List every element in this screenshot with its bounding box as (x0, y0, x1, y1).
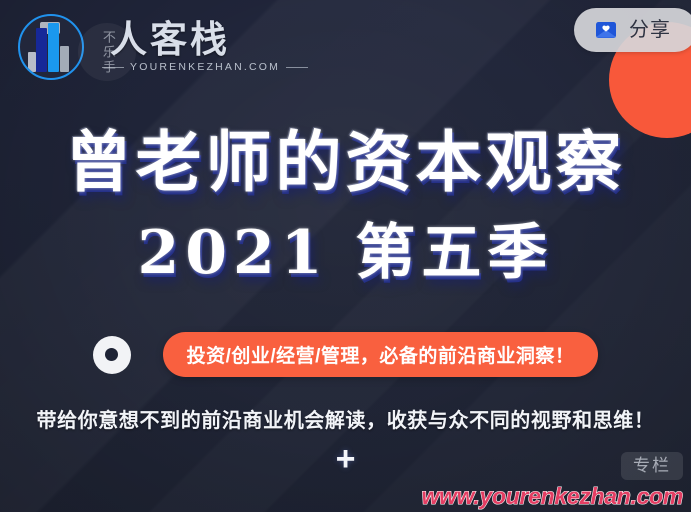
site-logo-text: 不乐手 人客栈 YOURENKEZHAN.COM (76, 21, 308, 73)
site-domain-text: YOURENKEZHAN.COM (130, 61, 280, 73)
avatar-shape-bar-4 (60, 46, 69, 72)
avatar-shape-bar-1 (36, 28, 47, 72)
subtitle-text: 带给你意想不到的前沿商业机会解读，收获与众不同的视野和思维！ (0, 404, 691, 433)
site-avatar (18, 14, 84, 80)
hero-title-line-1: 曾老师的资本观察 (0, 128, 691, 197)
promo-poster: 分享 不乐手 人客栈 YOURENKEZHAN.COM 曾老师的资本观察 202… (0, 0, 691, 512)
hero-title-line-2: 2021 第五季 (0, 222, 691, 285)
site-logo: 不乐手 人客栈 YOURENKEZHAN.COM (18, 14, 308, 80)
donut-bullet-icon (93, 336, 131, 374)
watermark-url: www.yourenkezhan.com (421, 483, 683, 510)
banner-row: 投资/创业/经营/管理，必备的前沿商业洞察！ (0, 332, 691, 377)
plus-icon: + (0, 442, 691, 476)
avatar-shape-bar-2 (48, 23, 59, 72)
share-envelope-heart-icon (594, 18, 618, 42)
domain-rule-right (286, 67, 308, 68)
site-brand-name: 人客栈 (110, 21, 230, 58)
banner-pill: 投资/创业/经营/管理，必备的前沿商业洞察！ (163, 332, 599, 377)
column-badge[interactable]: 专栏 (621, 452, 683, 480)
share-button-label: 分享 (629, 20, 671, 40)
share-button[interactable]: 分享 (574, 8, 691, 52)
avatar-shape-bar-3 (28, 52, 36, 72)
